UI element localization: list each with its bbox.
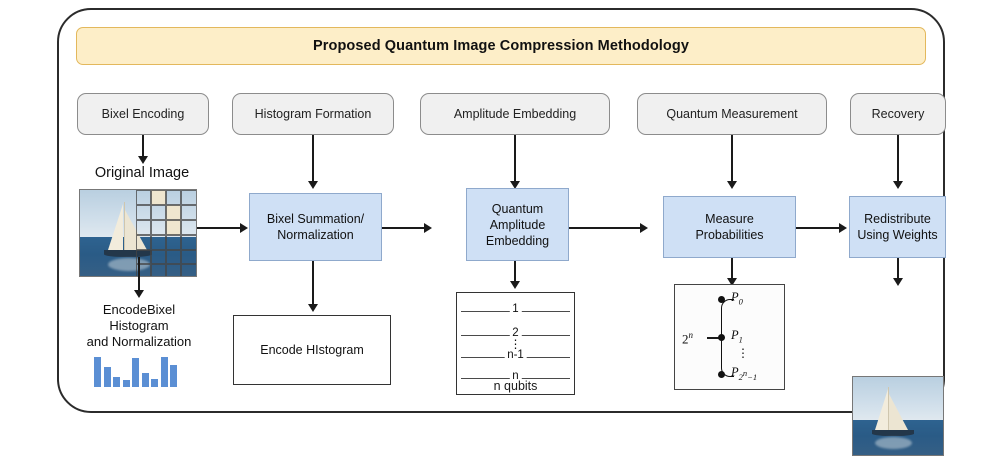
stage-label: Histogram Formation [255, 107, 372, 121]
histogram-bar-4 [132, 358, 139, 387]
arrow-right-icon [839, 223, 847, 233]
arrow-down-icon [308, 304, 318, 312]
arrow-down-icon [134, 290, 144, 298]
probability-dot [718, 296, 725, 303]
connector-line [197, 227, 241, 229]
connector-line [138, 257, 140, 291]
qubit-line-label-1: 1 [509, 304, 521, 316]
stage-box-bixel-encoding[interactable]: Bixel Encoding [77, 93, 209, 135]
mast [888, 387, 889, 432]
encode-caption-line-2: Histogram [60, 318, 218, 334]
arrow-right-icon [640, 223, 648, 233]
histogram-bar-8 [170, 365, 177, 387]
connector-line [514, 261, 516, 283]
normalized-histogram-chart [94, 357, 177, 387]
connector-line [569, 227, 641, 229]
connector-line [731, 258, 733, 280]
encode-bixel-caption: EncodeBixel Histogram and Normalization [60, 302, 218, 350]
arrow-down-icon [308, 181, 318, 189]
probability-label-p2n-1: P2n−1 [731, 365, 757, 382]
encode-histogram-box[interactable]: Encode HIstogram [233, 315, 391, 385]
hull [872, 430, 914, 436]
measured-probabilities-box: 2n P0 P1 ⋮ P2n−1 [674, 284, 785, 390]
recovered-image-thumbnail [852, 376, 944, 456]
figure-canvas: Proposed Quantum Image Compression Metho… [0, 0, 999, 421]
bixel-grid-overlay [136, 190, 196, 276]
encode-caption-line-1: EncodeBixel [60, 302, 218, 318]
two-to-the-n-label: 2n [682, 330, 693, 347]
connector-line [731, 135, 733, 182]
stage-label: Amplitude Embedding [454, 107, 576, 121]
stage-label: Quantum Measurement [666, 107, 797, 121]
probability-dot [718, 371, 725, 378]
process-box-quantum-amplitude-embedding[interactable]: Quantum Amplitude Embedding [466, 188, 569, 261]
stage-label: Bixel Encoding [102, 107, 185, 121]
histogram-bar-1 [104, 367, 111, 387]
process-box-text: Bixel Summation/ Normalization [267, 211, 364, 243]
encode-histogram-label: Encode HIstogram [260, 343, 364, 357]
encode-caption-line-3: and Normalization [60, 334, 218, 350]
process-box-redistribute-using-weights[interactable]: Redistribute Using Weights [849, 196, 946, 258]
probability-vertical-dots: ⋮ [737, 349, 749, 358]
arrow-down-icon [893, 181, 903, 189]
qubit-register-box: 1 2 ⋮ n-1 n n qubits [456, 292, 575, 395]
process-box-text: Measure Probabilities [695, 211, 763, 243]
process-box-text: Quantum Amplitude Embedding [486, 201, 549, 249]
arrow-down-icon [138, 156, 148, 164]
arrow-down-icon [727, 181, 737, 189]
stage-box-amplitude-embedding[interactable]: Amplitude Embedding [420, 93, 610, 135]
connector-line [142, 135, 144, 157]
histogram-bar-3 [123, 380, 130, 387]
histogram-bar-6 [151, 379, 158, 387]
original-image-label: Original Image [72, 165, 212, 183]
arrow-right-icon [240, 223, 248, 233]
stage-box-histogram-formation[interactable]: Histogram Formation [232, 93, 394, 135]
histogram-bar-7 [161, 357, 168, 387]
connector-line [514, 135, 516, 182]
probability-label-p1: P1 [731, 328, 743, 345]
probability-dot [718, 334, 725, 341]
diagram-title-banner: Proposed Quantum Image Compression Metho… [76, 27, 926, 65]
histogram-bar-2 [113, 377, 120, 387]
qubit-vertical-dots: ⋮ [510, 340, 522, 349]
connector-line [796, 227, 840, 229]
arrow-down-icon [893, 278, 903, 286]
qubit-register-caption: n qubits [457, 379, 574, 393]
connector-line [312, 261, 314, 305]
connector-line [312, 135, 314, 182]
connector-line [897, 135, 899, 182]
process-box-measure-probabilities[interactable]: Measure Probabilities [663, 196, 796, 258]
mast [124, 202, 125, 252]
connector-line [382, 227, 425, 229]
qubit-line-label-n-minus-1: n-1 [504, 350, 527, 362]
page-title: Proposed Quantum Image Compression Metho… [313, 38, 689, 54]
arrow-down-icon [510, 281, 520, 289]
process-box-text: Redistribute Using Weights [857, 211, 937, 243]
histogram-bar-0 [94, 357, 101, 387]
histogram-bar-5 [142, 373, 149, 387]
stage-box-quantum-measurement[interactable]: Quantum Measurement [637, 93, 827, 135]
stage-box-recovery[interactable]: Recovery [850, 93, 946, 135]
stage-label: Recovery [872, 107, 925, 121]
water-reflection [875, 437, 912, 449]
process-box-bixel-summation[interactable]: Bixel Summation/ Normalization [249, 193, 382, 261]
probability-label-p0: P0 [731, 290, 743, 307]
connector-line [897, 258, 899, 280]
arrow-right-icon [424, 223, 432, 233]
